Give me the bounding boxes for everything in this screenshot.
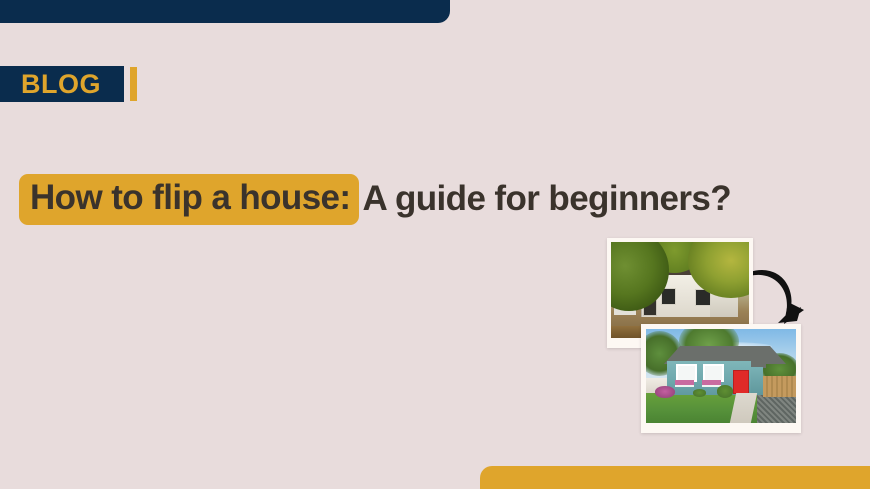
shrub-decor — [693, 389, 707, 397]
blog-banner-canvas: BLOG How to flip a house: A guide for be… — [0, 0, 870, 489]
blog-badge-label: BLOG — [21, 66, 101, 102]
blog-badge-accent-bar — [130, 67, 137, 101]
top-navy-bar — [0, 0, 450, 23]
page-title: How to flip a house: A guide for beginne… — [19, 172, 731, 226]
bottom-gold-bar — [480, 466, 870, 489]
page-title-highlight: How to flip a house: — [19, 174, 359, 225]
shrub-decor — [717, 385, 734, 397]
gravel-decor — [757, 395, 796, 423]
curved-down-right-arrow-icon — [748, 266, 810, 326]
after-photo-image — [646, 329, 796, 423]
fence-decor — [763, 376, 796, 397]
after-photo-frame — [641, 324, 801, 433]
blog-badge: BLOG — [0, 66, 101, 102]
page-title-rest: A guide for beginners? — [362, 179, 731, 219]
shrub-decor — [655, 386, 675, 397]
flower-box-decor — [675, 380, 695, 388]
after-red-door-decor — [733, 370, 749, 394]
